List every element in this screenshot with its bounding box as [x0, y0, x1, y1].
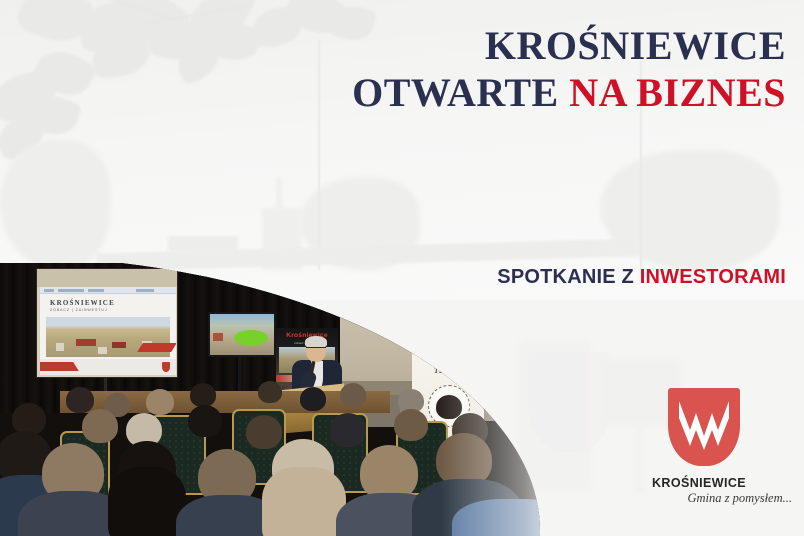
rollup-banner-teresin-text: Koło Gospodyń Wiejskich TERESIN — [434, 345, 484, 376]
audience-head — [146, 389, 174, 415]
slide-arrow-left — [40, 362, 79, 371]
headline-line-1: KROŚNIEWICE — [352, 24, 786, 67]
tv-monitor-stand — [238, 357, 241, 393]
audience-shoulders — [452, 499, 560, 536]
audience-head — [258, 381, 282, 403]
slide-roof — [76, 339, 96, 346]
audience-head — [436, 395, 462, 419]
audience-head — [12, 403, 46, 435]
poster-headline: KROŚNIEWICE OTWARTE NA BIZNES — [352, 24, 786, 114]
audience-head — [330, 413, 366, 447]
slide-arrow-right — [137, 343, 176, 352]
municipality-logo-tagline: Gmina z pomysłem... — [648, 491, 796, 506]
slide-building — [98, 347, 107, 354]
speaker-glasses — [306, 347, 326, 351]
sunflower-icon — [442, 325, 456, 339]
teresin-line-2: Gospodyń — [434, 354, 484, 360]
slide-aerial-photo — [46, 317, 170, 357]
subheadline-red: INWESTORAMI — [640, 266, 786, 288]
audience-head — [340, 383, 366, 407]
speaker-hair — [305, 336, 327, 347]
audience-hair-long — [262, 467, 346, 536]
audience-head — [190, 383, 216, 407]
audience-head — [246, 415, 282, 449]
watermark-ghost-stand — [636, 420, 643, 494]
headline-line-2: OTWARTE NA BIZNES — [352, 71, 786, 114]
slide-browser-bar — [40, 287, 176, 294]
projection-screen: KROŚNIEWICE ZOBACZ | ZAINWESTUJ — [36, 268, 178, 378]
event-photograph: KROŚNIEWICE ZOBACZ | ZAINWESTUJ — [0, 263, 560, 536]
watermark-pole — [318, 40, 320, 270]
audience-head — [300, 387, 326, 411]
audience-hair-long — [108, 467, 186, 536]
subheadline-dark: SPOTKANIE Z — [497, 266, 639, 288]
headline-line-2-dark: OTWARTE — [352, 70, 569, 115]
poster-subheadline: SPOTKANIE Z INWESTORAMI — [497, 266, 786, 289]
tv-monitor — [208, 312, 276, 357]
photograph-inner: KROŚNIEWICE ZOBACZ | ZAINWESTUJ — [0, 263, 560, 536]
watermark-building — [276, 178, 282, 214]
headline-line-2-red: NA BIZNES — [569, 70, 786, 115]
slide-building — [56, 343, 64, 351]
projection-screen-header — [37, 269, 177, 287]
teresin-line-1: Koło — [434, 345, 484, 354]
audience-head — [188, 405, 222, 437]
teresin-line-4: TERESIN — [434, 367, 484, 376]
slide-roof — [112, 342, 126, 348]
municipality-logo-name: KROŚNIEWICE — [648, 476, 796, 490]
audience-head — [82, 409, 118, 443]
audience-head — [394, 409, 428, 441]
poster-canvas: KROŚNIEWICE OTWARTE NA BIZNES SPOTKANIE … — [0, 0, 804, 536]
tv-monitor-screen — [210, 314, 274, 355]
crest-w-glyph-icon — [668, 388, 740, 466]
presentation-slide: KROŚNIEWICE ZOBACZ | ZAINWESTUJ — [40, 287, 176, 375]
teresin-line-3: Wiejskich — [434, 361, 484, 367]
watermark-roof — [168, 236, 238, 252]
slide-title: KROŚNIEWICE — [50, 299, 115, 307]
lavender-icon — [454, 331, 470, 353]
tv-map-building — [213, 333, 223, 341]
watermark-shrub — [0, 140, 110, 270]
tv-map-investment-area — [234, 330, 268, 346]
audience-head — [66, 387, 94, 413]
municipality-logo: KROŚNIEWICE Gmina z pomysłem... — [648, 388, 796, 506]
sunflower-icon — [420, 329, 440, 349]
slide-subtitle: ZOBACZ | ZAINWESTUJ — [50, 308, 108, 312]
slide-crest-icon — [162, 362, 170, 372]
crest-shield-icon — [668, 388, 740, 466]
